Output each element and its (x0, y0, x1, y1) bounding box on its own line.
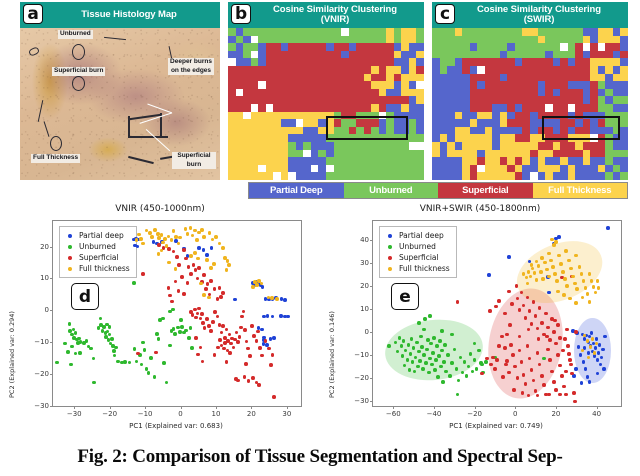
cluster-cell (288, 104, 296, 112)
cluster-cell (515, 51, 523, 59)
cluster-cell (522, 66, 530, 74)
cluster-cell (394, 51, 402, 59)
cluster-cell (432, 36, 440, 44)
cluster-cell (243, 157, 251, 165)
scatter-point (113, 354, 117, 358)
cluster-cell (296, 104, 304, 112)
cluster-cell (522, 43, 530, 51)
cluster-cell (409, 157, 417, 165)
cluster-cell (583, 66, 591, 74)
cluster-cell (371, 74, 379, 82)
cluster-cell (318, 89, 326, 97)
cluster-cell (620, 51, 628, 59)
scatter-point (530, 322, 534, 326)
cluster-cell (341, 36, 349, 44)
y-axis-tick-mark (370, 332, 373, 333)
scatter-point (260, 354, 264, 358)
scatter-point (582, 360, 586, 364)
cluster-cell (273, 36, 281, 44)
cluster-cell (281, 66, 289, 74)
scatter-point (557, 235, 561, 239)
cluster-cell (613, 28, 621, 36)
cluster-cell (605, 150, 613, 158)
x-axis-tick-mark (181, 406, 182, 409)
y-axis-tick-mark (370, 401, 373, 402)
scatter-point (187, 336, 191, 340)
cluster-cell (538, 43, 546, 51)
cluster-cell (507, 58, 515, 66)
cluster-cell (303, 127, 311, 135)
scatter-point (580, 381, 584, 385)
cluster-cell (605, 74, 613, 82)
cluster-cell (349, 150, 357, 158)
cluster-cell (326, 142, 334, 150)
scatter-point (547, 275, 551, 279)
cluster-cell (440, 28, 448, 36)
cluster-cell (462, 51, 470, 59)
cluster-cell (341, 104, 349, 112)
cluster-cell (334, 74, 342, 82)
cluster-cell (462, 74, 470, 82)
cluster-cell (303, 104, 311, 112)
cluster-cell (575, 96, 583, 104)
cluster-cell (311, 119, 319, 127)
x-axis-tick-label: −20 (467, 410, 482, 418)
cluster-cell (485, 89, 493, 97)
cluster-cell (522, 127, 530, 135)
scatter-point (141, 272, 145, 276)
panel-e-ylabel: PC2 (Explained var: 0.146) (328, 311, 336, 398)
scatter-point (444, 370, 448, 374)
legend-entry-label: Full thickness (399, 264, 450, 273)
cluster-cell (538, 96, 546, 104)
cluster-cell (500, 150, 508, 158)
scatter-point (526, 344, 530, 348)
cluster-cell (492, 142, 500, 150)
cluster-cell (281, 172, 289, 180)
cluster-cell (281, 150, 289, 158)
scatter-point (552, 243, 556, 247)
cluster-cell (613, 165, 621, 173)
panel-d-title: VNIR (450-1000nm) (0, 204, 320, 214)
cluster-cell (485, 127, 493, 135)
cluster-cell (590, 142, 598, 150)
cluster-cell (432, 43, 440, 51)
scatter-point (157, 337, 161, 341)
cluster-cell (258, 172, 266, 180)
scatter-point (558, 336, 562, 340)
cluster-cell (251, 43, 259, 51)
legend-color-dot (388, 245, 392, 249)
cluster-cell (334, 36, 342, 44)
x-axis-tick-label: −20 (102, 410, 117, 418)
cluster-cell (522, 96, 530, 104)
cluster-cell (318, 150, 326, 158)
cluster-cell (553, 43, 561, 51)
scatter-point (421, 367, 425, 371)
cluster-cell (432, 165, 440, 173)
legend-color-dot (388, 267, 392, 271)
cluster-cell (409, 112, 417, 120)
cluster-cell (243, 172, 251, 180)
cluster-cell (258, 127, 266, 135)
cluster-cell (243, 28, 251, 36)
cluster-cell (590, 165, 598, 173)
cluster-cell (485, 43, 493, 51)
cluster-cell (416, 112, 424, 120)
cluster-cell (545, 58, 553, 66)
cluster-cell (432, 112, 440, 120)
cluster-cell (318, 112, 326, 120)
cluster-cell (432, 142, 440, 150)
scatter-point (586, 292, 590, 296)
cluster-cell (349, 81, 357, 89)
cluster-cell (432, 58, 440, 66)
cluster-cell (590, 66, 598, 74)
scatter-point (558, 393, 562, 397)
cluster-cell (477, 89, 485, 97)
scatter-point (206, 282, 210, 286)
cluster-cell (545, 96, 553, 104)
scatter-point (191, 234, 195, 238)
cluster-cell (243, 51, 251, 59)
cluster-cell (258, 157, 266, 165)
scatter-point (548, 358, 552, 362)
scatter-point (143, 348, 147, 352)
scatter-point (598, 343, 602, 347)
cluster-cell (394, 172, 402, 180)
cluster-cell (598, 43, 606, 51)
scatter-point (78, 351, 82, 355)
cluster-cell (401, 104, 409, 112)
cluster-cell (334, 157, 342, 165)
cluster-cell (530, 142, 538, 150)
cluster-cell (432, 96, 440, 104)
cluster-cell (455, 66, 463, 74)
scatter-point (203, 326, 207, 330)
cluster-cell (507, 74, 515, 82)
cluster-cell (311, 142, 319, 150)
cluster-cell (228, 36, 236, 44)
cluster-cell (288, 28, 296, 36)
cluster-cell (303, 74, 311, 82)
cluster-cell (386, 74, 394, 82)
cluster-cell (530, 51, 538, 59)
cluster-cell (303, 81, 311, 89)
scatter-point (564, 393, 568, 397)
scatter-point (450, 333, 454, 337)
scatter-point (556, 323, 560, 327)
legend-entry-label: Superficial (79, 253, 119, 262)
cluster-cell (455, 112, 463, 120)
cluster-cell (613, 36, 621, 44)
y-axis-tick-mark (50, 406, 53, 407)
cluster-cell (545, 51, 553, 59)
cluster-cell (243, 81, 251, 89)
scatter-point (587, 351, 591, 355)
cluster-cell (303, 51, 311, 59)
cluster-cell (416, 134, 424, 142)
cluster-cell (605, 28, 613, 36)
cluster-cell (545, 74, 553, 82)
cluster-cell (371, 96, 379, 104)
cluster-cell (296, 165, 304, 173)
cluster-cell (613, 43, 621, 51)
scatter-point (199, 346, 203, 350)
cluster-cell (500, 89, 508, 97)
cluster-cell (620, 157, 628, 165)
legend-color-dot (68, 256, 72, 260)
cluster-cell (236, 112, 244, 120)
cluster-cell (311, 89, 319, 97)
scatter-point (546, 348, 550, 352)
cluster-cell (462, 96, 470, 104)
cluster-cell (273, 127, 281, 135)
cluster-cell (583, 58, 591, 66)
cluster-cell (386, 51, 394, 59)
x-axis-tick-mark (556, 406, 557, 409)
scatter-point (128, 361, 132, 365)
cluster-cell (515, 89, 523, 97)
scatter-point (235, 331, 239, 335)
scatter-point (417, 321, 421, 325)
scatter-point (555, 279, 559, 283)
cluster-cell (432, 28, 440, 36)
scatter-point (520, 360, 524, 364)
scatter-point (252, 334, 256, 338)
cluster-cell (266, 119, 274, 127)
cluster-cell (311, 51, 319, 59)
cluster-cell (620, 172, 628, 180)
scatter-point (214, 235, 218, 239)
cluster-cell (409, 165, 417, 173)
cluster-cell (432, 51, 440, 59)
scatter-point (507, 255, 511, 259)
x-axis-tick-label: 0 (513, 410, 517, 418)
cluster-cell (288, 36, 296, 44)
cluster-cell (288, 58, 296, 66)
cluster-cell (288, 157, 296, 165)
scatter-point (240, 315, 244, 319)
scatter-point (596, 279, 600, 283)
cluster-cell (477, 157, 485, 165)
cluster-cell (500, 165, 508, 173)
cluster-cell (447, 58, 455, 66)
cluster-cell (303, 172, 311, 180)
cluster-cell (236, 150, 244, 158)
cluster-cell (371, 66, 379, 74)
cluster-cell (356, 66, 364, 74)
cluster-cell (386, 58, 394, 66)
cluster-cell (394, 165, 402, 173)
cluster-cell (341, 28, 349, 36)
cluster-cell (462, 43, 470, 51)
cluster-cell (470, 104, 478, 112)
cluster-cell (507, 104, 515, 112)
cluster-cell (530, 96, 538, 104)
figure-caption: Fig. 2: Comparison of Tissue Segmentatio… (0, 446, 640, 468)
scatter-point (66, 350, 70, 354)
cluster-cell (273, 150, 281, 158)
cluster-cell (258, 43, 266, 51)
scatter-point (184, 257, 188, 261)
cluster-cell (575, 81, 583, 89)
x-axis-tick-mark (251, 406, 252, 409)
cluster-cell (538, 104, 546, 112)
cluster-cell (447, 89, 455, 97)
cluster-cell (515, 28, 523, 36)
scatter-point (187, 265, 191, 269)
cluster-cell (296, 66, 304, 74)
cluster-cell (371, 142, 379, 150)
cluster-cell (364, 51, 372, 59)
cluster-cell (447, 142, 455, 150)
cluster-cell (273, 119, 281, 127)
cluster-cell (251, 89, 259, 97)
cluster-cell (455, 119, 463, 127)
cluster-cell (251, 119, 259, 127)
scatter-point (209, 279, 213, 283)
cluster-cell (470, 127, 478, 135)
cluster-cell (364, 66, 372, 74)
scatter-point (173, 332, 177, 336)
cluster-cell (349, 157, 357, 165)
cluster-cell (349, 58, 357, 66)
cluster-cell (288, 96, 296, 104)
cluster-cell (492, 43, 500, 51)
cluster-cell (349, 36, 357, 44)
cluster-cell (266, 51, 274, 59)
cluster-cell (258, 28, 266, 36)
cluster-cell (492, 119, 500, 127)
cluster-cell (318, 74, 326, 82)
cluster-cell (258, 150, 266, 158)
cluster-cell (545, 28, 553, 36)
cluster-cell (500, 51, 508, 59)
cluster-cell (326, 172, 334, 180)
cluster-cell (507, 157, 515, 165)
cluster-cell (515, 43, 523, 51)
cluster-cell (500, 172, 508, 180)
cluster-cell (236, 104, 244, 112)
scatter-point (541, 277, 545, 281)
cluster-cell (371, 89, 379, 97)
cluster-cell (447, 112, 455, 120)
cluster-cell (318, 58, 326, 66)
cluster-cell (583, 104, 591, 112)
scatter-point (229, 342, 233, 346)
scatter-point (167, 261, 171, 265)
cluster-cell (251, 172, 259, 180)
cluster-cell (386, 150, 394, 158)
cluster-cell (236, 43, 244, 51)
cluster-cell (341, 142, 349, 150)
cluster-cell (515, 172, 523, 180)
cluster-cell (266, 89, 274, 97)
scatter-point (579, 353, 583, 357)
cluster-cell (620, 43, 628, 51)
scatter-point (219, 295, 223, 299)
cluster-cell (258, 58, 266, 66)
cluster-cell (341, 89, 349, 97)
scatter-point (418, 359, 422, 363)
scatter-point (232, 346, 236, 350)
cluster-cell (296, 134, 304, 142)
cluster-cell (605, 165, 613, 173)
cluster-cell (236, 36, 244, 44)
cluster-cell (379, 104, 387, 112)
scatter-point (201, 360, 205, 364)
cluster-cell (440, 104, 448, 112)
scatter-point (542, 357, 546, 361)
cluster-cell (440, 127, 448, 135)
cluster-cell (303, 119, 311, 127)
cluster-cell (379, 172, 387, 180)
cluster-cell (236, 81, 244, 89)
cluster-cell (281, 127, 289, 135)
cluster-cell (538, 157, 546, 165)
cluster-cell (553, 172, 561, 180)
scatter-point (398, 336, 402, 340)
cluster-cell (462, 165, 470, 173)
histology-photo: Unburned Superficial burn Deeper burns o… (20, 28, 220, 180)
cluster-cell (258, 74, 266, 82)
cluster-cell (228, 134, 236, 142)
scatter-point (417, 350, 421, 354)
cluster-cell (243, 165, 251, 173)
legend-color-dot (68, 234, 72, 238)
x-axis-tick-mark (597, 406, 598, 409)
x-axis-tick-mark (287, 406, 288, 409)
scatter-point (182, 292, 186, 296)
cluster-cell (281, 96, 289, 104)
cluster-cell (409, 28, 417, 36)
cluster-cell (447, 127, 455, 135)
scatter-point (564, 370, 568, 374)
cluster-cell (598, 96, 606, 104)
cluster-cell (386, 172, 394, 180)
scatter-point (573, 400, 577, 404)
cluster-cell (401, 43, 409, 51)
cluster-cell (598, 142, 606, 150)
cluster-cell (364, 104, 372, 112)
cluster-cell (575, 172, 583, 180)
cluster-cell (288, 165, 296, 173)
scatter-point (165, 244, 169, 248)
cluster-cell (251, 51, 259, 59)
cluster-cell (303, 112, 311, 120)
cluster-cell (507, 96, 515, 104)
cluster-cell (364, 172, 372, 180)
cluster-cell (401, 150, 409, 158)
cluster-cell (401, 36, 409, 44)
cluster-cell (416, 150, 424, 158)
cluster-cell (477, 66, 485, 74)
cluster-cell (371, 51, 379, 59)
cluster-cell (409, 119, 417, 127)
scatter-point (256, 330, 260, 334)
cluster-cell (379, 142, 387, 150)
cluster-cell (296, 127, 304, 135)
cluster-cell (590, 36, 598, 44)
scatter-point (556, 290, 560, 294)
cluster-cell (477, 28, 485, 36)
scatter-point (434, 358, 438, 362)
cluster-cell (394, 58, 402, 66)
cluster-map-vnir (228, 28, 424, 180)
cluster-cell (356, 104, 364, 112)
scatter-point (572, 391, 576, 395)
